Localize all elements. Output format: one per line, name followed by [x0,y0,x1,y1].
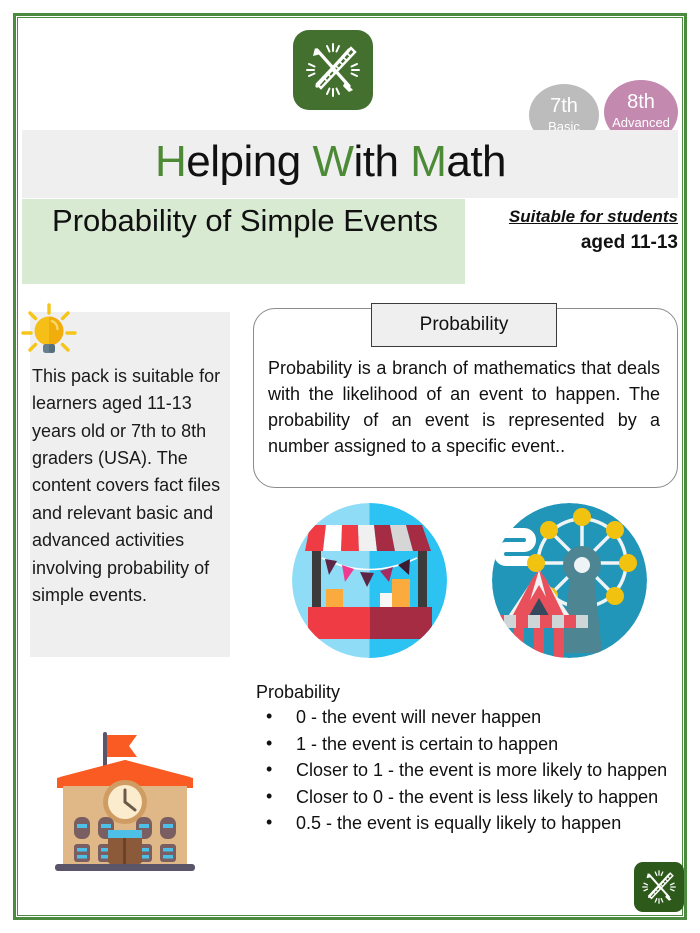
list-item: 0 - the event will never happen [256,705,668,731]
pencil-ruler-icon [293,30,373,110]
brand-title-elping: elping [186,137,312,186]
brand-title-w: W [312,137,353,186]
list-item: Closer to 1 - the event is more likely t… [256,758,668,784]
list-item: 0.5 - the event is equally likely to hap… [256,811,668,837]
pencil-ruler-icon [634,862,684,912]
list-item: 1 - the event is certain to happen [256,732,668,758]
worksheet-page: 7th Basic 8th Advanced USA GRADES Helpin… [0,0,700,933]
probability-list-heading: Probability [256,682,340,703]
definition-card-body: Probability is a branch of mathematics t… [268,355,660,459]
market-stall-icon [292,503,447,658]
school-building-icon [30,720,220,905]
lightbulb-icon [18,300,80,362]
probability-list: 0 - the event will never happen 1 - the … [256,705,668,838]
list-item: Closer to 0 - the event is less likely t… [256,785,668,811]
brand-title-m: M [410,137,446,186]
page-title: Probability of Simple Events [30,200,460,241]
sidebar-description: This pack is suitable for learners aged … [32,363,228,609]
definition-card-label: Probability [371,303,557,347]
brand-title-h: H [155,137,186,186]
grade-badge-advanced-grade: 8th [604,80,678,112]
suitability-line-2: aged 11-13 [470,232,678,254]
grade-badge-advanced-level: Advanced [604,112,678,129]
suitability-line-1: Suitable for students [470,207,678,227]
brand-title-ath: ath [446,137,506,186]
ferris-wheel-circus-icon [492,503,647,658]
brand-title-ith: ith [353,137,410,186]
suitability-note: Suitable for students aged 11-13 [470,207,678,254]
brand-title: Helping With Math [155,137,506,187]
grade-badge-basic-grade: 7th [529,84,599,116]
